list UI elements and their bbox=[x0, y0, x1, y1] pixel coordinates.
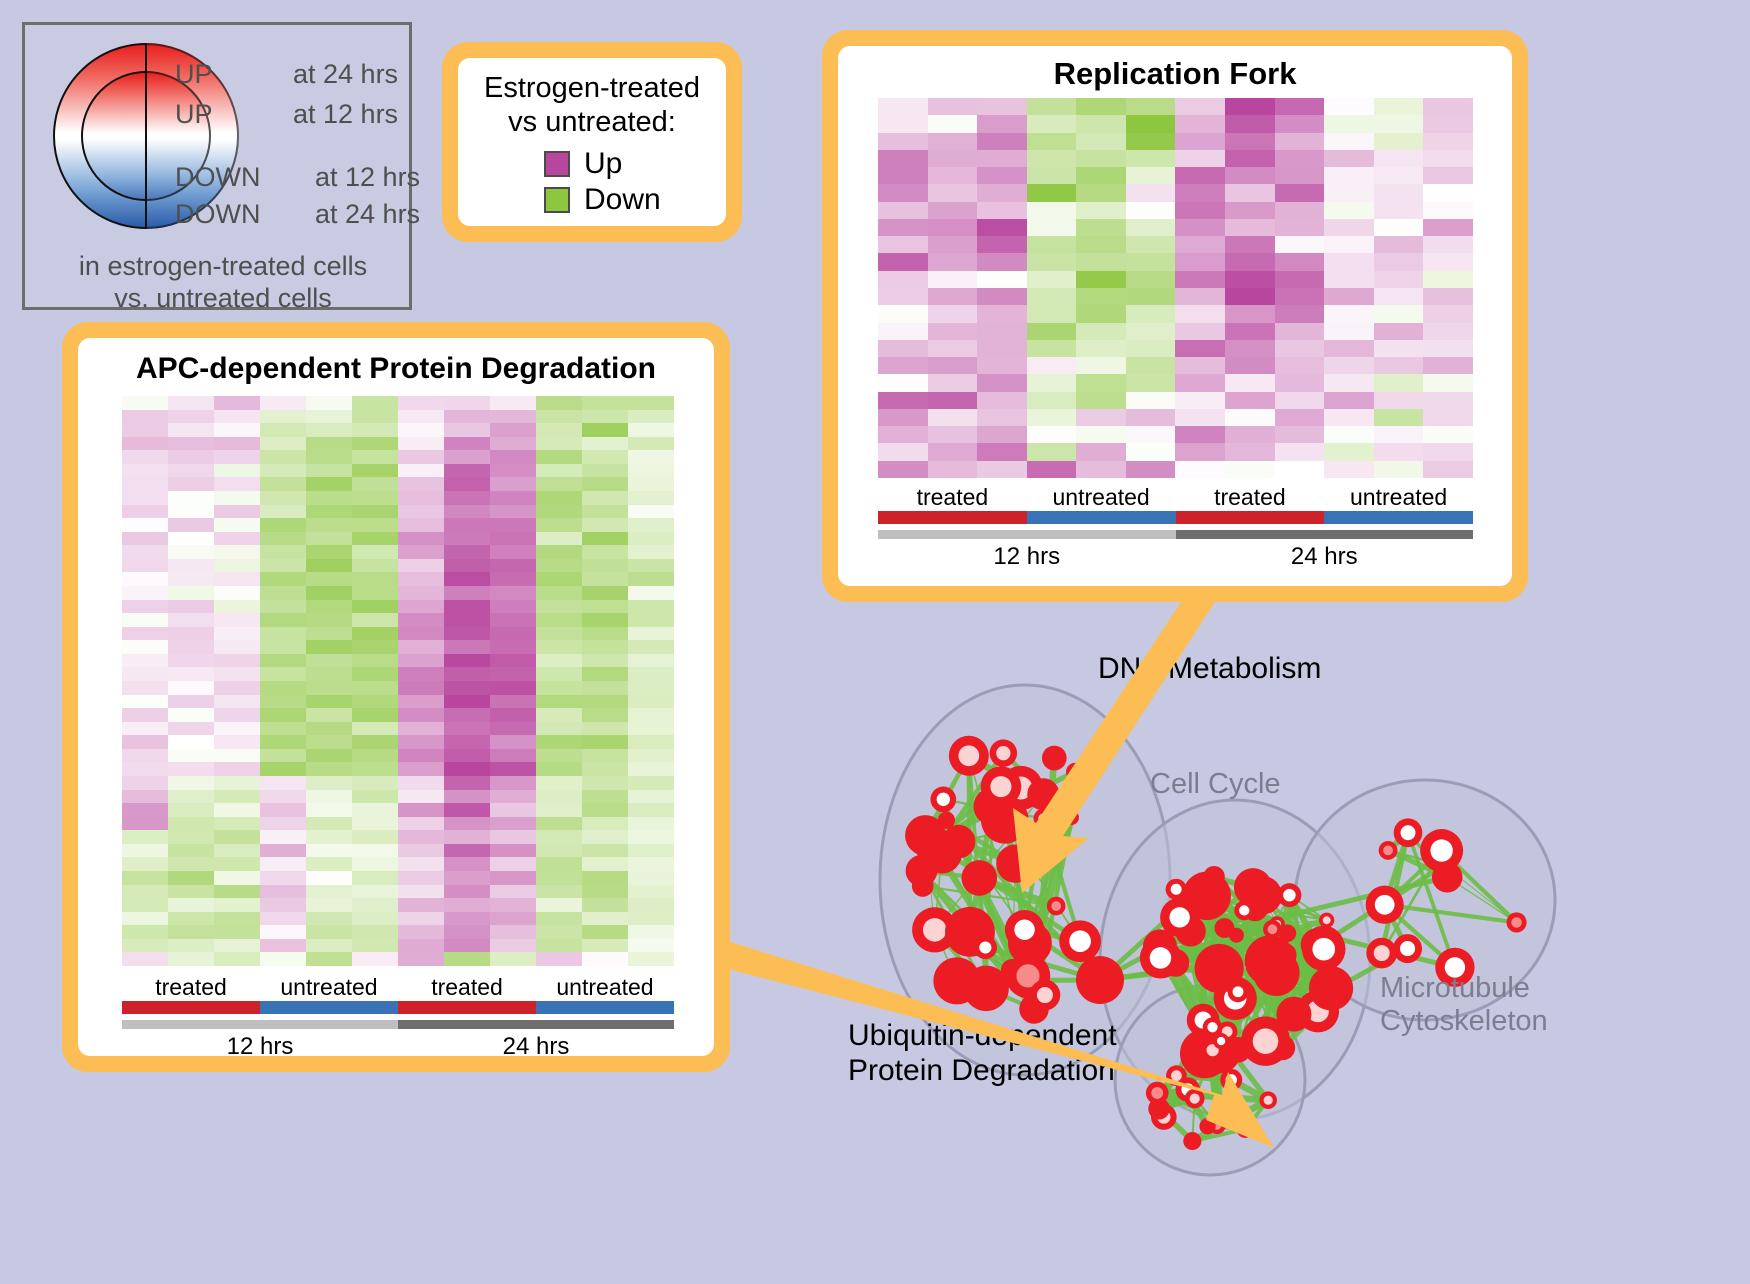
heatmap-cell bbox=[444, 572, 490, 586]
heatmap-cell bbox=[536, 491, 582, 505]
heatmap-cell bbox=[352, 396, 398, 410]
network-node[interactable] bbox=[974, 936, 997, 959]
heatmap-cell bbox=[168, 640, 214, 654]
heatmap-cell bbox=[444, 450, 490, 464]
heatmap-cell bbox=[490, 925, 536, 939]
heatmap-cell bbox=[1324, 374, 1374, 391]
heatmap-cell bbox=[398, 830, 444, 844]
apc-degradation-title: APC-dependent Protein Degradation bbox=[78, 338, 714, 386]
network-node[interactable] bbox=[996, 844, 1034, 882]
heatmap-cell bbox=[1275, 202, 1325, 219]
heatmap-cell bbox=[628, 396, 674, 410]
heatmap-cell bbox=[214, 912, 260, 926]
heatmap-cell bbox=[122, 572, 168, 586]
heatmap-cell bbox=[1076, 305, 1126, 322]
heatmap-cell bbox=[490, 450, 536, 464]
heatmap-cell bbox=[352, 925, 398, 939]
heatmap-cell bbox=[628, 450, 674, 464]
heatmap-cell bbox=[306, 613, 352, 627]
heatmap-cell bbox=[214, 464, 260, 478]
heatmap-cell bbox=[1374, 305, 1424, 322]
heatmap-cell bbox=[928, 98, 978, 115]
heatmap-cell bbox=[490, 613, 536, 627]
heatmap-cell bbox=[1175, 236, 1225, 253]
heatmap-cell bbox=[1027, 150, 1077, 167]
heatmap-cell bbox=[398, 803, 444, 817]
heatmap-cell bbox=[928, 150, 978, 167]
heatmap-cell bbox=[490, 749, 536, 763]
heatmap-cell bbox=[398, 491, 444, 505]
network-node[interactable] bbox=[1229, 928, 1244, 943]
network-node[interactable] bbox=[990, 739, 1017, 766]
heatmap-cell bbox=[306, 505, 352, 519]
heatmap-cell bbox=[490, 586, 536, 600]
network-node[interactable] bbox=[1029, 980, 1060, 1011]
heatmap-cell bbox=[214, 586, 260, 600]
network-node[interactable] bbox=[1366, 938, 1397, 969]
heatmap-cell bbox=[398, 423, 444, 437]
heatmap-cell bbox=[260, 600, 306, 614]
network-node[interactable] bbox=[1507, 912, 1527, 932]
heatmap-cell bbox=[628, 722, 674, 736]
heatmap-cell bbox=[260, 437, 306, 451]
heatmap-cell bbox=[1374, 236, 1424, 253]
heatmap-cell bbox=[1225, 184, 1275, 201]
heatmap-cell bbox=[582, 410, 628, 424]
network-node[interactable] bbox=[1183, 1132, 1201, 1150]
heatmap-cell bbox=[628, 844, 674, 858]
heatmap-cell bbox=[398, 681, 444, 695]
heatmap-cell bbox=[1027, 219, 1077, 236]
heatmap-cell bbox=[168, 491, 214, 505]
rf-time-label-12: 12 hrs bbox=[878, 543, 1176, 571]
rf-bar-treated-12 bbox=[878, 511, 1027, 524]
heatmap-cell bbox=[628, 695, 674, 709]
heatmap-cell bbox=[1076, 98, 1126, 115]
heatmap-cell bbox=[928, 443, 978, 460]
heatmap-cell bbox=[214, 450, 260, 464]
heatmap-cell bbox=[1275, 426, 1325, 443]
heatmap-cell bbox=[306, 586, 352, 600]
heatmap-cell bbox=[536, 505, 582, 519]
network-node[interactable] bbox=[961, 860, 997, 896]
heatmap-cell bbox=[398, 695, 444, 709]
heatmap-cell bbox=[628, 735, 674, 749]
network-node[interactable] bbox=[1076, 956, 1124, 1004]
heatmap-cell bbox=[582, 600, 628, 614]
network-node[interactable] bbox=[1319, 913, 1334, 928]
legend-item-down: Down bbox=[544, 183, 726, 217]
heatmap-cell bbox=[490, 708, 536, 722]
network-node[interactable] bbox=[1059, 920, 1101, 962]
network-node[interactable] bbox=[1027, 778, 1059, 810]
heatmap-cell bbox=[1225, 150, 1275, 167]
network-node[interactable] bbox=[949, 736, 989, 776]
heatmap-cell bbox=[306, 939, 352, 953]
heatmap-cell bbox=[1423, 236, 1473, 253]
network-node[interactable] bbox=[1420, 829, 1463, 872]
heatmap-cell bbox=[1126, 305, 1176, 322]
heatmap-cell bbox=[306, 817, 352, 831]
heatmap-cell bbox=[398, 532, 444, 546]
heatmap-cell bbox=[1374, 150, 1424, 167]
heatmap-cell bbox=[214, 817, 260, 831]
heatmap-cell bbox=[1027, 288, 1077, 305]
heatmap-cell bbox=[352, 722, 398, 736]
heatmap-cell bbox=[490, 722, 536, 736]
heatmap-cell bbox=[352, 410, 398, 424]
heatmap-cell bbox=[214, 505, 260, 519]
heatmap-cell bbox=[398, 627, 444, 641]
heatmap-cell bbox=[1027, 98, 1077, 115]
heatmap-cell bbox=[260, 817, 306, 831]
heatmap-cell bbox=[1374, 202, 1424, 219]
network-node[interactable] bbox=[1394, 818, 1423, 847]
heatmap-cell bbox=[1175, 150, 1225, 167]
heatmap-cell bbox=[214, 885, 260, 899]
network-node[interactable] bbox=[1213, 1033, 1229, 1049]
heatmap-cell bbox=[214, 749, 260, 763]
network-node[interactable] bbox=[1259, 1091, 1277, 1109]
heatmap-cell bbox=[122, 600, 168, 614]
heatmap-cell bbox=[122, 898, 168, 912]
heatmap-cell bbox=[536, 518, 582, 532]
network-node[interactable] bbox=[930, 786, 956, 812]
network-node[interactable] bbox=[1366, 886, 1404, 924]
network-node[interactable] bbox=[1302, 927, 1346, 971]
heatmap-cell bbox=[1275, 374, 1325, 391]
heatmap-cell bbox=[1423, 392, 1473, 409]
heatmap-cell bbox=[582, 776, 628, 790]
heatmap-cell bbox=[168, 735, 214, 749]
heatmap-cell bbox=[628, 871, 674, 885]
heatmap-cell bbox=[398, 613, 444, 627]
heatmap-cell bbox=[122, 885, 168, 899]
heatmap-cell bbox=[628, 667, 674, 681]
heatmap-cell bbox=[628, 559, 674, 573]
network-node[interactable] bbox=[1146, 1082, 1169, 1105]
heatmap-cell bbox=[1076, 409, 1126, 426]
heatmap-cell bbox=[490, 790, 536, 804]
heatmap-cell bbox=[1324, 409, 1374, 426]
heatmap-cell bbox=[352, 749, 398, 763]
network-node[interactable] bbox=[1185, 1089, 1205, 1109]
heatmap-cell bbox=[168, 912, 214, 926]
heatmap-cell bbox=[260, 695, 306, 709]
heatmap-cell bbox=[444, 491, 490, 505]
heatmap-cell bbox=[1324, 340, 1374, 357]
heatmap-cell bbox=[1175, 271, 1225, 288]
heatmap-cell bbox=[536, 627, 582, 641]
heatmap-cell bbox=[490, 735, 536, 749]
heatmap-cell bbox=[352, 776, 398, 790]
heatmap-cell bbox=[490, 559, 536, 573]
heatmap-cell bbox=[1076, 115, 1126, 132]
heatmap-cell bbox=[1027, 357, 1077, 374]
rf-time-label-24: 24 hrs bbox=[1176, 543, 1474, 571]
heatmap-cell bbox=[306, 871, 352, 885]
rf-bar-untreated-12 bbox=[1027, 511, 1176, 524]
heatmap-cell bbox=[168, 627, 214, 641]
heatmap-cell bbox=[490, 423, 536, 437]
heatmap-cell bbox=[352, 939, 398, 953]
heatmap-cell bbox=[352, 912, 398, 926]
heatmap-cell bbox=[628, 749, 674, 763]
heatmap-cell bbox=[444, 532, 490, 546]
heatmap-cell bbox=[168, 600, 214, 614]
apc-time-labels: 12 hrs 24 hrs bbox=[122, 1033, 674, 1061]
heatmap-cell bbox=[536, 749, 582, 763]
heatmap-cell bbox=[977, 202, 1027, 219]
heatmap-cell bbox=[352, 559, 398, 573]
network-node[interactable] bbox=[1236, 1120, 1254, 1138]
network-node[interactable] bbox=[1005, 910, 1044, 949]
heatmap-cell bbox=[214, 952, 260, 966]
heatmap-cell bbox=[1126, 426, 1176, 443]
heatmap-cell bbox=[628, 885, 674, 899]
network-node[interactable] bbox=[1245, 935, 1296, 986]
heatmap-cell bbox=[260, 776, 306, 790]
network-node[interactable] bbox=[1244, 876, 1282, 914]
heatmap-cell bbox=[1225, 323, 1275, 340]
heatmap-cell bbox=[306, 952, 352, 966]
heatmap-cell bbox=[1423, 184, 1473, 201]
heatmap-cell bbox=[490, 491, 536, 505]
heatmap-cell bbox=[878, 219, 928, 236]
heatmap-cell bbox=[1175, 340, 1225, 357]
heatmap-cell bbox=[352, 885, 398, 899]
apc-degradation-panel: APC-dependent Protein Degradation treate… bbox=[62, 322, 730, 1072]
heatmap-cell bbox=[1324, 271, 1374, 288]
heatmap-cell bbox=[1275, 150, 1325, 167]
heatmap-cell bbox=[260, 708, 306, 722]
heatmap-cell bbox=[582, 844, 628, 858]
heatmap-cell bbox=[1225, 236, 1275, 253]
heatmap-cell bbox=[1324, 461, 1374, 478]
heatmap-cell bbox=[878, 115, 928, 132]
heatmap-cell bbox=[1225, 253, 1275, 270]
heatmap-cell bbox=[1275, 323, 1325, 340]
heatmap-cell bbox=[1423, 426, 1473, 443]
heatmap-cell bbox=[1126, 115, 1176, 132]
heatmap-cell bbox=[260, 912, 306, 926]
heatmap-cell bbox=[398, 572, 444, 586]
heatmap-cell bbox=[1225, 288, 1275, 305]
network-node[interactable] bbox=[1309, 966, 1353, 1010]
network-node[interactable] bbox=[1241, 1017, 1290, 1066]
heatmap-cell bbox=[168, 667, 214, 681]
heatmap-cell bbox=[1275, 392, 1325, 409]
heatmap-cell bbox=[214, 762, 260, 776]
network-node[interactable] bbox=[1160, 898, 1199, 937]
rf-group-label-2: treated bbox=[1176, 484, 1325, 511]
heatmap-cell bbox=[1027, 133, 1077, 150]
heatmap-cell bbox=[260, 613, 306, 627]
heatmap-cell bbox=[1423, 443, 1473, 460]
rf-group-label-1: untreated bbox=[1027, 484, 1176, 511]
heatmap-cell bbox=[214, 410, 260, 424]
heatmap-cell bbox=[444, 667, 490, 681]
heatmap-cell bbox=[168, 925, 214, 939]
heatmap-cell bbox=[1076, 219, 1126, 236]
heatmap-cell bbox=[398, 410, 444, 424]
heatmap-cell bbox=[628, 708, 674, 722]
heatmap-cell bbox=[1275, 184, 1325, 201]
ring-time-up-12: at 12 hrs bbox=[293, 99, 398, 130]
heatmap-cell bbox=[444, 722, 490, 736]
updown-title-line1: Estrogen-treated bbox=[484, 72, 700, 104]
heatmap-cell bbox=[490, 532, 536, 546]
heatmap-cell bbox=[928, 409, 978, 426]
heatmap-cell bbox=[1423, 323, 1473, 340]
network-node[interactable] bbox=[1034, 809, 1054, 829]
heatmap-cell bbox=[260, 830, 306, 844]
heatmap-cell bbox=[878, 271, 928, 288]
network-node[interactable] bbox=[1393, 934, 1422, 963]
heatmap-cell bbox=[1175, 98, 1225, 115]
heatmap-cell bbox=[977, 271, 1027, 288]
heatmap-cell bbox=[878, 340, 928, 357]
heatmap-cell bbox=[582, 572, 628, 586]
heatmap-cell bbox=[628, 952, 674, 966]
network-node[interactable] bbox=[963, 966, 1008, 1011]
heatmap-cell bbox=[444, 613, 490, 627]
heatmap-cell bbox=[306, 708, 352, 722]
heatmap-cell bbox=[260, 898, 306, 912]
heatmap-cell bbox=[1126, 340, 1176, 357]
heatmap-cell bbox=[306, 667, 352, 681]
heatmap-cell bbox=[444, 654, 490, 668]
apc-group-color-bar bbox=[122, 1001, 674, 1014]
heatmap-cell bbox=[536, 681, 582, 695]
heatmap-cell bbox=[1324, 202, 1374, 219]
heatmap-cell bbox=[582, 803, 628, 817]
heatmap-cell bbox=[582, 830, 628, 844]
network-node[interactable] bbox=[905, 815, 946, 856]
heatmap-cell bbox=[582, 885, 628, 899]
updown-legend-title: Estrogen-treated vs untreated: bbox=[458, 72, 726, 139]
network-node[interactable] bbox=[1220, 1069, 1242, 1091]
heatmap-cell bbox=[352, 613, 398, 627]
heatmap-cell bbox=[122, 477, 168, 491]
heatmap-cell bbox=[260, 952, 306, 966]
heatmap-cell bbox=[928, 357, 978, 374]
heatmap-cell bbox=[536, 600, 582, 614]
heatmap-cell bbox=[306, 695, 352, 709]
pathway-network-graph: DNA Metabolism Cell Cycle Microtubule Cy… bbox=[780, 600, 1750, 1279]
heatmap-cell bbox=[1275, 409, 1325, 426]
heatmap-cell bbox=[398, 857, 444, 871]
heatmap-cell bbox=[214, 559, 260, 573]
heatmap-cell bbox=[1374, 271, 1424, 288]
apc-group-label-1: untreated bbox=[260, 974, 398, 1001]
heatmap-cell bbox=[398, 885, 444, 899]
heatmap-cell bbox=[1175, 443, 1225, 460]
heatmap-cell bbox=[536, 708, 582, 722]
heatmap-cell bbox=[1374, 443, 1424, 460]
heatmap-cell bbox=[1423, 98, 1473, 115]
heatmap-cell bbox=[1275, 340, 1325, 357]
heatmap-cell bbox=[398, 600, 444, 614]
heatmap-cell bbox=[536, 396, 582, 410]
heatmap-cell bbox=[1324, 98, 1374, 115]
replication-fork-panel: Replication Fork treated untreated treat… bbox=[822, 30, 1528, 602]
heatmap-cell bbox=[260, 505, 306, 519]
network-node[interactable] bbox=[1277, 883, 1301, 907]
network-node[interactable] bbox=[1228, 981, 1249, 1002]
heatmap-cell bbox=[1126, 167, 1176, 184]
heatmap-cell bbox=[1374, 98, 1424, 115]
heatmap-cell bbox=[214, 518, 260, 532]
network-node[interactable] bbox=[981, 766, 1022, 807]
rf-time-labels: 12 hrs 24 hrs bbox=[878, 543, 1473, 571]
heatmap-cell bbox=[122, 857, 168, 871]
heatmap-cell bbox=[1374, 409, 1424, 426]
network-node[interactable] bbox=[1140, 937, 1181, 978]
network-node[interactable] bbox=[912, 875, 934, 897]
heatmap-cell bbox=[536, 790, 582, 804]
heatmap-cell bbox=[214, 776, 260, 790]
network-node[interactable] bbox=[1199, 1118, 1215, 1134]
heatmap-cell bbox=[122, 722, 168, 736]
heatmap-cell bbox=[536, 912, 582, 926]
ring-label-down-24: DOWN bbox=[175, 199, 260, 230]
network-node[interactable] bbox=[1065, 811, 1079, 825]
heatmap-cell bbox=[1027, 115, 1077, 132]
heatmap-cell bbox=[352, 600, 398, 614]
apc-group-labels: treated untreated treated untreated bbox=[122, 974, 674, 1001]
heatmap-cell bbox=[536, 613, 582, 627]
network-node[interactable] bbox=[1066, 763, 1084, 781]
heatmap-cell bbox=[582, 396, 628, 410]
heatmap-cell bbox=[1175, 374, 1225, 391]
heatmap-cell bbox=[1126, 374, 1176, 391]
network-node[interactable] bbox=[1379, 841, 1398, 860]
heatmap-cell bbox=[582, 640, 628, 654]
heatmap-cell bbox=[122, 450, 168, 464]
heatmap-cell bbox=[582, 708, 628, 722]
network-node[interactable] bbox=[1042, 746, 1067, 771]
heatmap-cell bbox=[928, 426, 978, 443]
heatmap-cell bbox=[398, 396, 444, 410]
heatmap-cell bbox=[168, 749, 214, 763]
heatmap-cell bbox=[490, 885, 536, 899]
heatmap-cell bbox=[306, 491, 352, 505]
heatmap-cell bbox=[398, 790, 444, 804]
network-node[interactable] bbox=[1047, 897, 1066, 916]
heatmap-cell bbox=[1225, 271, 1275, 288]
heatmap-cell bbox=[536, 776, 582, 790]
heatmap-cell bbox=[168, 857, 214, 871]
heatmap-cell bbox=[306, 898, 352, 912]
heatmap-cell bbox=[214, 600, 260, 614]
heatmap-cell bbox=[1423, 340, 1473, 357]
heatmap-cell bbox=[1275, 443, 1325, 460]
heatmap-cell bbox=[122, 871, 168, 885]
heatmap-cell bbox=[1027, 374, 1077, 391]
heatmap-cell bbox=[628, 572, 674, 586]
heatmap-cell bbox=[214, 708, 260, 722]
heatmap-cell bbox=[122, 830, 168, 844]
heatmap-cell bbox=[536, 871, 582, 885]
heatmap-cell bbox=[352, 532, 398, 546]
heatmap-cell bbox=[1076, 184, 1126, 201]
heatmap-cell bbox=[977, 409, 1027, 426]
heatmap-cell bbox=[352, 654, 398, 668]
heatmap-cell bbox=[628, 762, 674, 776]
heatmap-cell bbox=[444, 708, 490, 722]
heatmap-cell bbox=[214, 654, 260, 668]
